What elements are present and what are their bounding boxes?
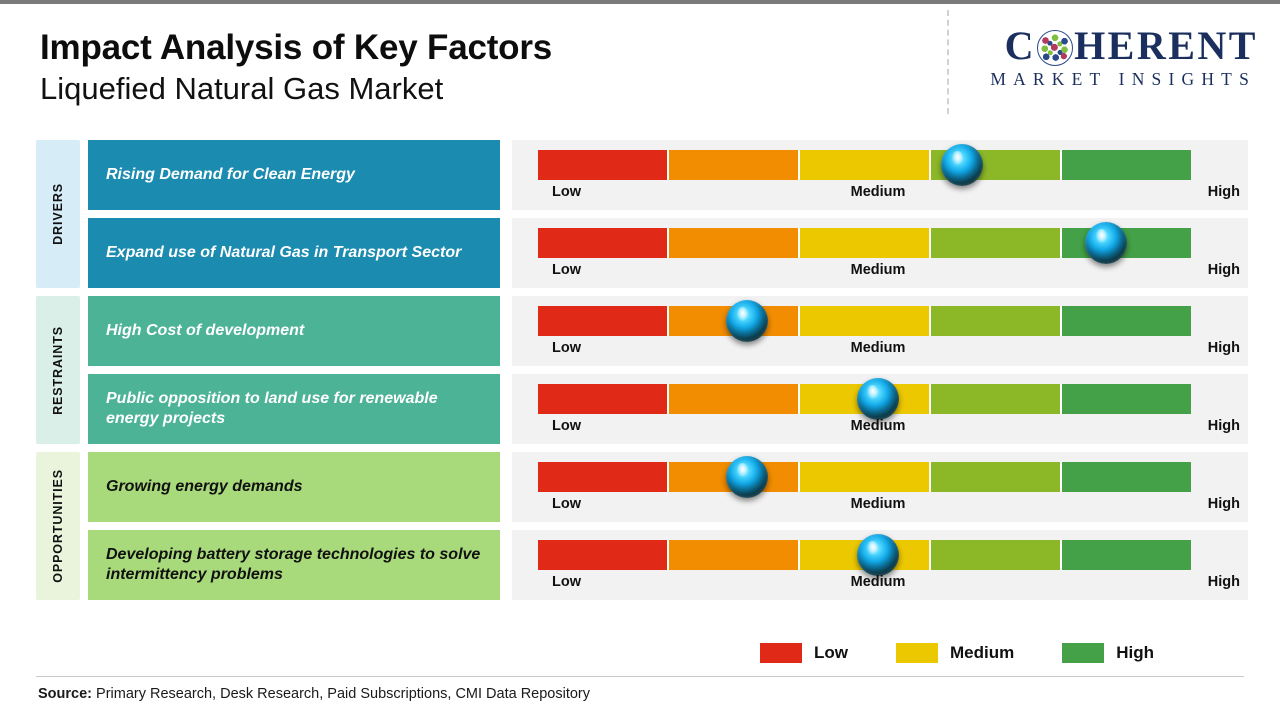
gauge-segment-4 xyxy=(931,228,1062,258)
scale-label-high: High xyxy=(1208,340,1240,356)
gauge-segment-1 xyxy=(538,462,669,492)
gauge-bar xyxy=(538,150,1191,180)
category-label-opportunities: OPPORTUNITIES xyxy=(36,452,80,600)
gauge-marker[interactable] xyxy=(726,300,768,342)
page-title: Impact Analysis of Key Factors xyxy=(40,28,552,67)
scale-label-high: High xyxy=(1208,574,1240,590)
gauge-row: LowMediumHigh xyxy=(512,530,1248,600)
factor-card-list: High Cost of developmentPublic oppositio… xyxy=(88,296,500,444)
source-note: Source: Primary Research, Desk Research,… xyxy=(38,686,590,702)
legend: LowMediumHigh xyxy=(760,643,1154,663)
logo-tagline: MARKET INSIGHTS xyxy=(990,69,1258,90)
legend-swatch-high xyxy=(1062,643,1104,663)
scale-label-high: High xyxy=(1208,418,1240,434)
scale-label-low: Low xyxy=(552,262,581,278)
gauge-scale-labels: LowMediumHigh xyxy=(538,340,1218,362)
scale-label-high: High xyxy=(1208,496,1240,512)
scale-label-high: High xyxy=(1208,262,1240,278)
gauge-segment-5 xyxy=(1062,306,1191,336)
gauge-segment-5 xyxy=(1062,150,1191,180)
scale-label-medium: Medium xyxy=(851,184,906,200)
legend-label: Medium xyxy=(950,643,1014,663)
legend-swatch-medium xyxy=(896,643,938,663)
factor-card[interactable]: Public opposition to land use for renewa… xyxy=(88,374,500,444)
legend-item: Low xyxy=(760,643,848,663)
header: Impact Analysis of Key Factors Liquefied… xyxy=(0,4,1280,132)
gauge-bar xyxy=(538,306,1191,336)
gauge-row: LowMediumHigh xyxy=(512,296,1248,366)
gauge-column: LowMediumHighLowMediumHighLowMediumHighL… xyxy=(512,140,1248,608)
scale-label-low: Low xyxy=(552,184,581,200)
scale-label-low: Low xyxy=(552,418,581,434)
factor-card[interactable]: High Cost of development xyxy=(88,296,500,366)
gauge-segment-4 xyxy=(931,306,1062,336)
gauge-marker[interactable] xyxy=(726,456,768,498)
gauge-scale-labels: LowMediumHigh xyxy=(538,184,1218,206)
page-subtitle: Liquefied Natural Gas Market xyxy=(40,71,552,108)
infographic-page: Impact Analysis of Key Factors Liquefied… xyxy=(0,0,1280,720)
gauge-row: LowMediumHigh xyxy=(512,452,1248,522)
gauge-segment-1 xyxy=(538,150,669,180)
gauge-segment-3 xyxy=(800,306,931,336)
factor-group: OPPORTUNITIESGrowing energy demandsDevel… xyxy=(36,452,500,600)
gauge-segment-4 xyxy=(931,540,1062,570)
scale-label-high: High xyxy=(1208,184,1240,200)
factor-group: DRIVERSRising Demand for Clean EnergyExp… xyxy=(36,140,500,288)
gauge-segment-1 xyxy=(538,306,669,336)
gauge-segment-5 xyxy=(1062,540,1191,570)
gauge-marker[interactable] xyxy=(857,534,899,576)
factor-card[interactable]: Rising Demand for Clean Energy xyxy=(88,140,500,210)
legend-item: Medium xyxy=(896,643,1014,663)
gauge-segment-3 xyxy=(800,150,931,180)
scale-label-medium: Medium xyxy=(851,574,906,590)
gauge-segment-3 xyxy=(800,228,931,258)
legend-label: Low xyxy=(814,643,848,663)
gauge-segment-5 xyxy=(1062,462,1191,492)
factor-card[interactable]: Growing energy demands xyxy=(88,452,500,522)
legend-label: High xyxy=(1116,643,1154,663)
category-label-text: RESTRAINTS xyxy=(51,326,65,415)
gauge-bar xyxy=(538,462,1191,492)
gauge-segment-2 xyxy=(669,384,800,414)
title-block: Impact Analysis of Key Factors Liquefied… xyxy=(40,28,552,108)
factor-group: RESTRAINTSHigh Cost of developmentPublic… xyxy=(36,296,500,444)
logo-letter-c: C xyxy=(1005,26,1036,66)
company-logo: C HERENT MARKET INSIGHTS xyxy=(990,26,1258,90)
source-text: Primary Research, Desk Research, Paid Su… xyxy=(92,686,590,702)
factor-card[interactable]: Developing battery storage technologies … xyxy=(88,530,500,600)
gauge-scale-labels: LowMediumHigh xyxy=(538,574,1218,596)
gauge-segment-4 xyxy=(931,462,1062,492)
factor-card[interactable]: Expand use of Natural Gas in Transport S… xyxy=(88,218,500,288)
category-label-drivers: DRIVERS xyxy=(36,140,80,288)
gauge-segment-2 xyxy=(669,540,800,570)
footer-divider xyxy=(36,676,1244,677)
gauge-segment-1 xyxy=(538,228,669,258)
scale-label-medium: Medium xyxy=(851,340,906,356)
impact-board: DRIVERSRising Demand for Clean EnergyExp… xyxy=(0,140,1280,610)
logo-letters-herent: HERENT xyxy=(1074,26,1258,66)
legend-swatch-low xyxy=(760,643,802,663)
gauge-scale-labels: LowMediumHigh xyxy=(538,496,1218,518)
scale-label-low: Low xyxy=(552,340,581,356)
globe-dots-icon xyxy=(1037,30,1073,66)
scale-label-medium: Medium xyxy=(851,262,906,278)
scale-label-medium: Medium xyxy=(851,418,906,434)
gauge-row: LowMediumHigh xyxy=(512,140,1248,210)
category-label-text: OPPORTUNITIES xyxy=(51,469,65,583)
factor-card-list: Growing energy demandsDeveloping battery… xyxy=(88,452,500,600)
category-label-text: DRIVERS xyxy=(51,183,65,245)
gauge-segment-1 xyxy=(538,384,669,414)
gauge-segment-3 xyxy=(800,462,931,492)
factor-card-list: Rising Demand for Clean EnergyExpand use… xyxy=(88,140,500,288)
gauge-row: LowMediumHigh xyxy=(512,374,1248,444)
gauge-segment-4 xyxy=(931,384,1062,414)
gauge-marker[interactable] xyxy=(1085,222,1127,264)
scale-label-low: Low xyxy=(552,496,581,512)
gauge-row: LowMediumHigh xyxy=(512,218,1248,288)
category-label-restraints: RESTRAINTS xyxy=(36,296,80,444)
gauge-segment-2 xyxy=(669,228,800,258)
gauge-scale-labels: LowMediumHigh xyxy=(538,418,1218,440)
scale-label-low: Low xyxy=(552,574,581,590)
scale-label-medium: Medium xyxy=(851,496,906,512)
gauge-marker[interactable] xyxy=(857,378,899,420)
logo-wordmark: C HERENT xyxy=(990,26,1258,66)
header-dashed-divider xyxy=(947,10,949,114)
gauge-scale-labels: LowMediumHigh xyxy=(538,262,1218,284)
source-label: Source: xyxy=(38,686,92,702)
legend-item: High xyxy=(1062,643,1154,663)
gauge-segment-1 xyxy=(538,540,669,570)
gauge-segment-5 xyxy=(1062,384,1191,414)
gauge-segment-2 xyxy=(669,150,800,180)
